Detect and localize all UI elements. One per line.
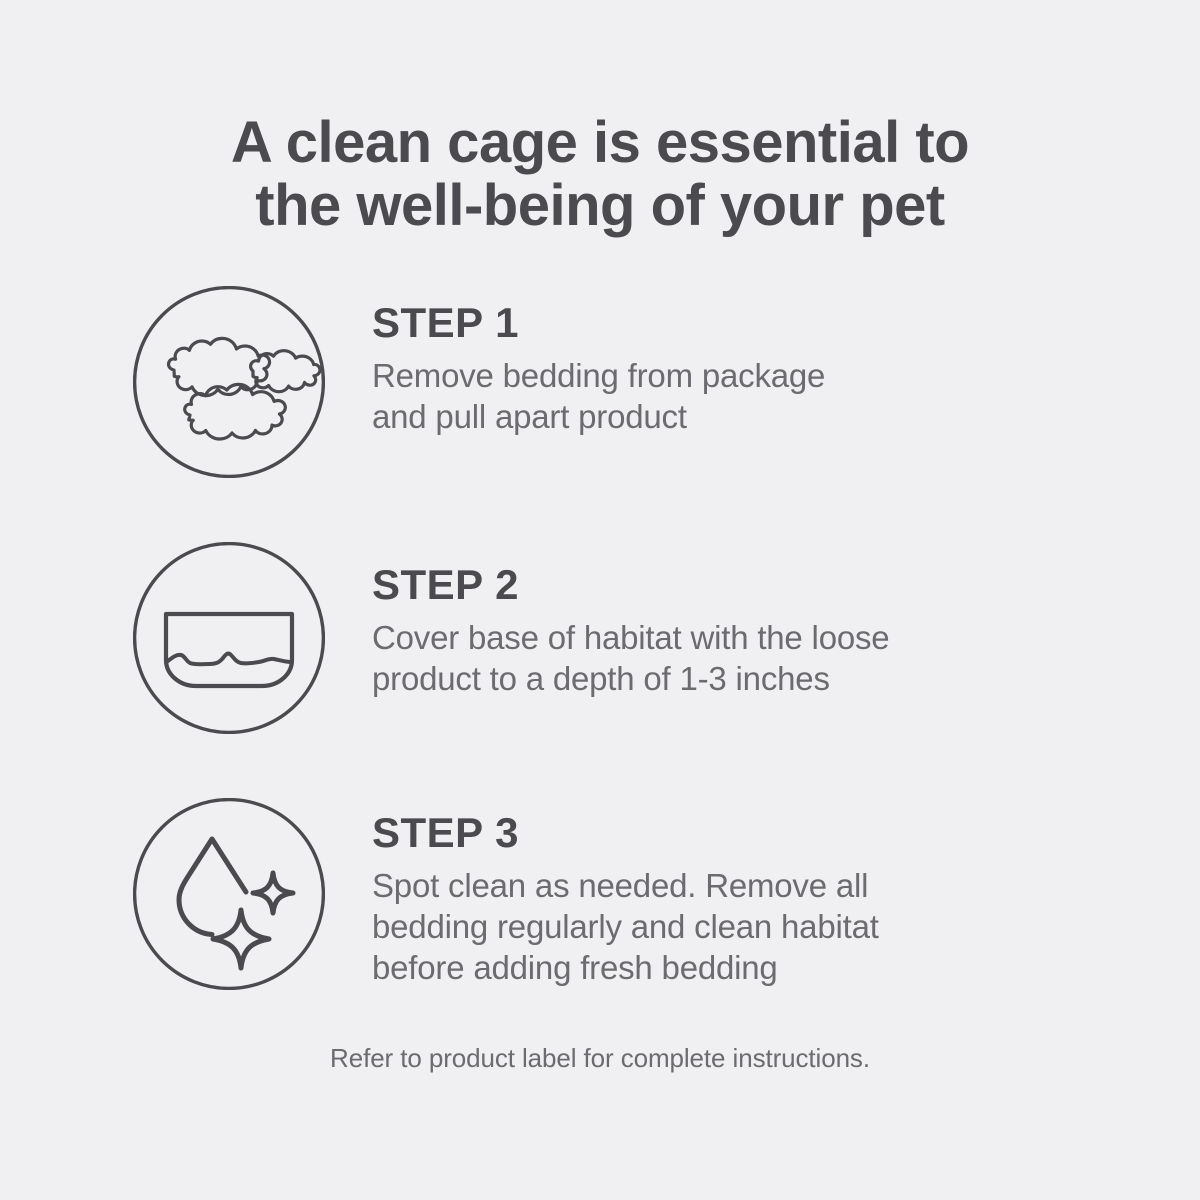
infographic-poster: A clean cage is essential to the well-be… <box>0 0 1200 1200</box>
step-description-1-line-1: Remove bedding from package <box>372 356 1102 397</box>
step-title-2: STEP 2 <box>372 564 1102 606</box>
step-text-2: STEP 2 Cover base of habitat with the lo… <box>372 564 1102 700</box>
bedding-clumps-icon <box>133 286 325 478</box>
page-title-line-2: the well-being of your pet <box>120 175 1080 238</box>
step-item-2: STEP 2 Cover base of habitat with the lo… <box>0 542 1200 798</box>
step-item-1: STEP 1 Remove bedding from package and p… <box>0 286 1200 542</box>
step-title-3: STEP 3 <box>372 812 1102 854</box>
step-description-1-line-2: and pull apart product <box>372 397 1102 438</box>
step-description-3: Spot clean as needed. Remove all bedding… <box>372 866 1102 989</box>
step-description-1: Remove bedding from package and pull apa… <box>372 356 1102 438</box>
step-description-2: Cover base of habitat with the loose pro… <box>372 618 1102 700</box>
page-title: A clean cage is essential to the well-be… <box>0 112 1200 237</box>
step-description-3-line-3: before adding fresh bedding <box>372 948 1102 989</box>
steps-list: STEP 1 Remove bedding from package and p… <box>0 286 1200 1054</box>
step-item-3: STEP 3 Spot clean as needed. Remove all … <box>0 798 1200 1054</box>
water-drop-sparkle-icon <box>133 798 325 990</box>
step-text-1: STEP 1 Remove bedding from package and p… <box>372 302 1102 438</box>
step-title-1: STEP 1 <box>372 302 1102 344</box>
step-description-2-line-2: product to a depth of 1-3 inches <box>372 659 1102 700</box>
step-description-3-line-2: bedding regularly and clean habitat <box>372 907 1102 948</box>
habitat-tank-icon <box>133 542 325 734</box>
step-description-2-line-1: Cover base of habitat with the loose <box>372 618 1102 659</box>
page-title-line-1: A clean cage is essential to <box>120 112 1080 175</box>
step-description-3-line-1: Spot clean as needed. Remove all <box>372 866 1102 907</box>
step-text-3: STEP 3 Spot clean as needed. Remove all … <box>372 812 1102 989</box>
footnote: Refer to product label for complete inst… <box>0 1043 1200 1074</box>
